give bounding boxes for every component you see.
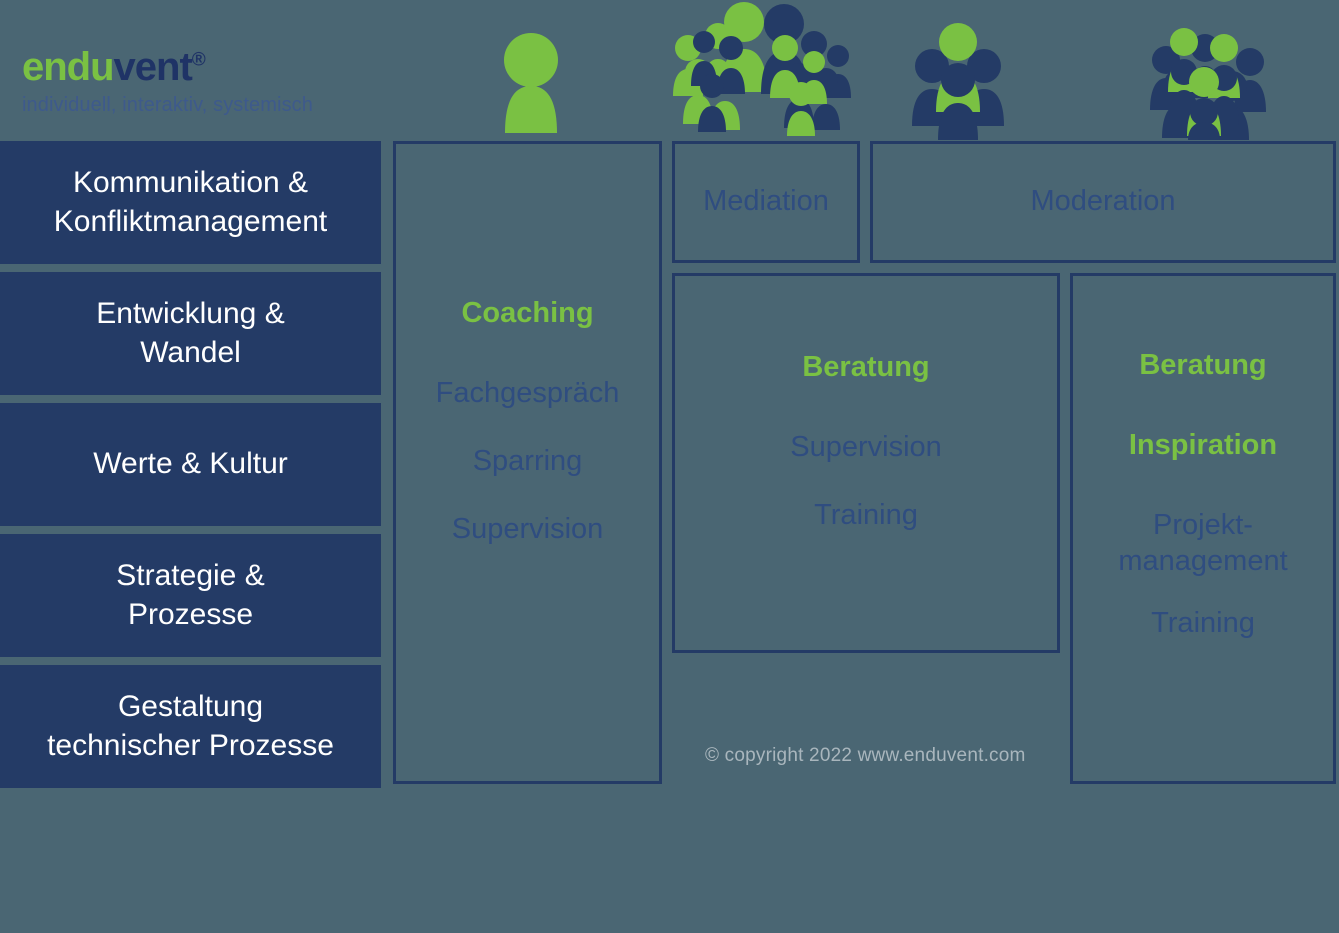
topic-card-entwicklung-wandel[interactable]: Entwicklung & Wandel [0,272,381,395]
registered-trademark-icon: ® [192,50,205,71]
copyright-notice: © copyright 2022 www.enduvent.com [705,745,1026,767]
brand-logo: enduvent® individuell, interaktiv, syste… [22,46,382,117]
large-group-icon [1148,0,1268,140]
beratung-right-heading: Beratung [1131,348,1274,384]
mediation-heading: Mediation [695,184,837,220]
coaching-item-fachgespraech: Fachgespräch [428,376,628,412]
panel-beratung-inspiration[interactable]: Beratung Inspiration Projekt- management… [1070,273,1336,784]
topic-line-1: Kommunikation & [54,164,328,202]
panel-coaching[interactable]: Coaching Fachgespräch Sparring Supervisi… [393,141,662,784]
single-person-icon [486,0,576,140]
topic-line-2: Konfliktmanagement [54,203,328,241]
small-team-icon [908,0,1008,140]
topic-line-1: Strategie & [116,557,264,595]
topic-line-1: Werte & Kultur [93,445,288,483]
topic-card-werte-kultur[interactable]: Werte & Kultur [0,403,381,526]
projektmanagement-line-2: management [1118,544,1287,580]
topic-card-kommunikation-konfliktmanagement[interactable]: Kommunikation & Konfliktmanagement [0,141,381,264]
slide-canvas: enduvent® individuell, interaktiv, syste… [0,0,1339,793]
topic-card-gestaltung-technischer-prozesse[interactable]: Gestaltung technischer Prozesse [0,665,381,788]
moderation-heading: Moderation [1022,184,1183,220]
projektmanagement-line-1: Projekt- [1118,508,1287,544]
topic-line-1: Gestaltung [47,688,334,726]
beratung-right-subheading-inspiration: Inspiration [1121,428,1285,464]
topic-line-2: technischer Prozesse [47,727,334,765]
panel-mediation[interactable]: Mediation [672,141,860,263]
topic-line-1: Entwicklung & [96,295,284,333]
beratung-mid-heading: Beratung [794,350,937,386]
brand-wordmark: enduvent® [22,46,382,88]
coaching-item-sparring: Sparring [465,444,591,480]
beratung-mid-item-training: Training [806,498,926,534]
topic-line-2: Wandel [96,334,284,372]
panel-beratung-group[interactable]: Beratung Supervision Training [672,273,1060,653]
two-groups-facing-icon [668,0,858,140]
topic-stack: Kommunikation & Konfliktmanagement Entwi… [0,141,381,796]
beratung-mid-item-supervision: Supervision [782,430,950,466]
beratung-right-item-projektmanagement: Projekt- management [1110,508,1295,580]
topic-line-2: Prozesse [116,596,264,634]
wordmark-endu: endu [22,45,114,89]
brand-tagline: individuell, interaktiv, systemisch [22,94,382,117]
coaching-heading: Coaching [453,296,601,332]
coaching-item-supervision: Supervision [444,512,612,548]
panel-moderation[interactable]: Moderation [870,141,1336,263]
wordmark-vent: vent [114,45,192,89]
beratung-right-item-training: Training [1143,606,1263,642]
topic-card-strategie-prozesse[interactable]: Strategie & Prozesse [0,534,381,657]
